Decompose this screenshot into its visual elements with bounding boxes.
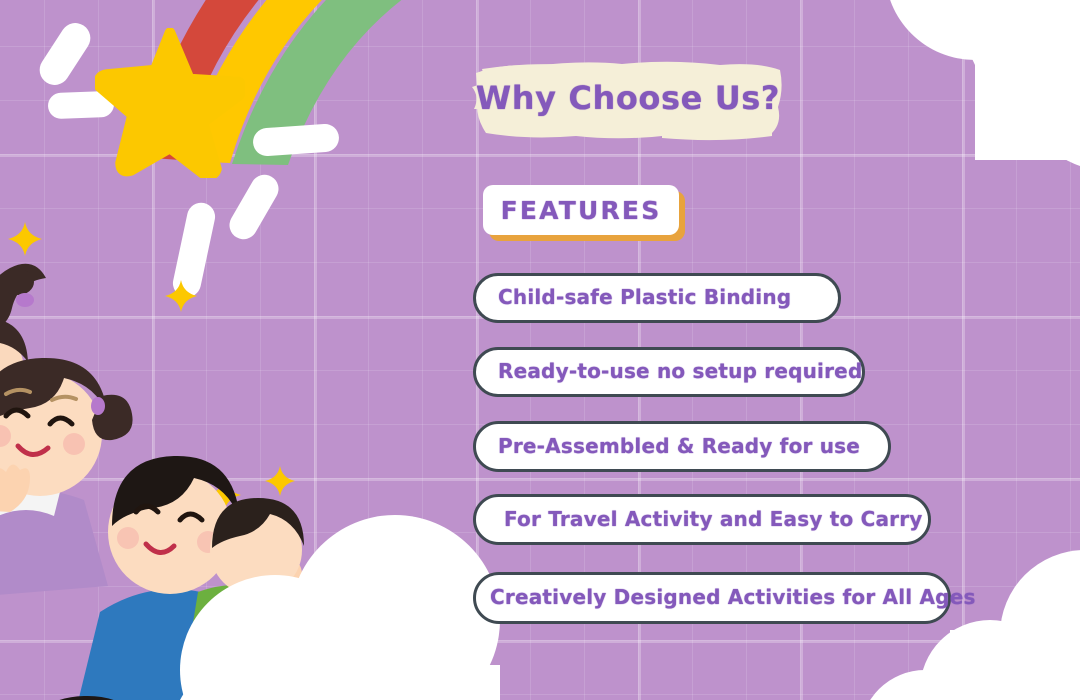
slide-canvas: Why Choose Us? FEATURES Child-safe Plast… xyxy=(0,0,1080,700)
sparkle-ray-icon xyxy=(34,17,96,90)
features-badge: FEATURES xyxy=(483,185,679,235)
feature-pill-label: Ready-to-use no setup required xyxy=(498,359,862,383)
sparkle-ray-icon xyxy=(252,123,340,157)
page-title-text: Why Choose Us? xyxy=(472,57,784,143)
cloud-icon xyxy=(920,550,1080,700)
feature-pill-label: Creatively Designed Activities for All A… xyxy=(490,585,976,609)
feature-pill-label: Pre-Assembled & Ready for use xyxy=(498,434,860,458)
feature-pill[interactable]: Pre-Assembled & Ready for use xyxy=(473,421,891,472)
star-icon xyxy=(95,28,245,178)
feature-pill-label: Child-safe Plastic Binding xyxy=(498,285,791,309)
feature-pill[interactable]: Child-safe Plastic Binding xyxy=(473,273,841,323)
feature-pill[interactable]: For Travel Activity and Easy to Carry xyxy=(473,494,931,545)
features-badge-label: FEATURES xyxy=(483,185,679,235)
page-title: Why Choose Us? xyxy=(472,57,784,143)
feature-pill-label: For Travel Activity and Easy to Carry xyxy=(504,507,923,531)
feature-pill[interactable]: Creatively Designed Activities for All A… xyxy=(473,572,951,624)
cloud-icon xyxy=(855,0,1080,180)
feature-pill[interactable]: Ready-to-use no setup required xyxy=(473,347,865,397)
